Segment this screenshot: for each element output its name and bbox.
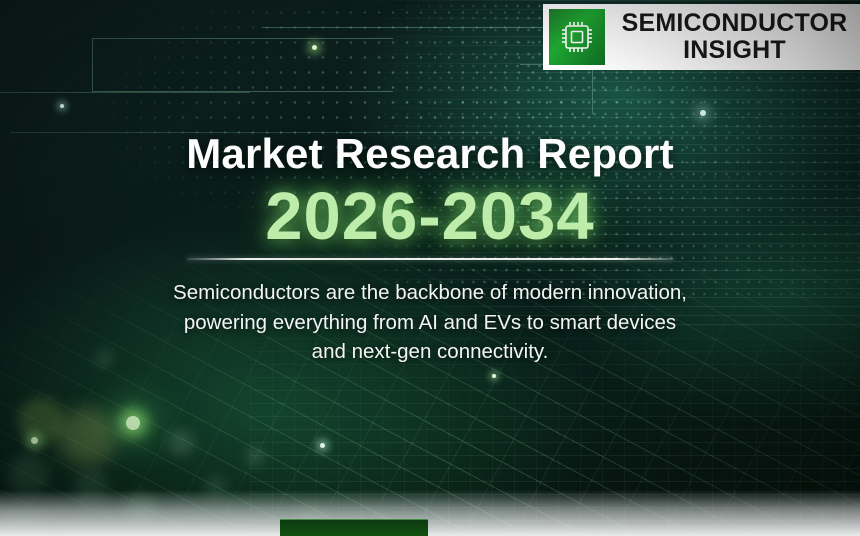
subtitle: Semiconductors are the backbone of moder… — [110, 278, 750, 366]
bokeh-light — [58, 408, 116, 466]
bokeh-light — [246, 448, 264, 466]
bokeh-light — [8, 455, 48, 495]
hero-content: Market Research Report 2026-2034 Semicon… — [0, 132, 860, 366]
bottom-fade-band — [0, 490, 860, 536]
page-title: Market Research Report — [0, 132, 860, 176]
glow-point — [700, 110, 706, 116]
microchip-icon — [549, 9, 605, 65]
bottom-chip-element — [280, 519, 428, 536]
divider — [187, 258, 673, 260]
glow-point — [312, 45, 317, 50]
brand-line-2: INSIGHT — [683, 38, 786, 63]
glow-point — [60, 104, 64, 108]
glow-point — [31, 437, 38, 444]
subtitle-line-3: and next-gen connectivity. — [110, 337, 750, 366]
circuit-outline-3 — [0, 92, 250, 94]
glow-point — [320, 443, 325, 448]
brand-wordmark: SEMICONDUCTOR INSIGHT — [613, 11, 860, 63]
year-range: 2026-2034 — [0, 182, 860, 252]
bokeh-light — [168, 430, 194, 456]
brand-logo-panel[interactable]: SEMICONDUCTOR INSIGHT — [543, 4, 860, 70]
glow-point — [126, 416, 140, 430]
subtitle-line-1: Semiconductors are the backbone of moder… — [110, 278, 750, 307]
brand-line-1: SEMICONDUCTOR — [622, 11, 848, 36]
marketing-poster: SEMICONDUCTOR INSIGHT Market Research Re… — [0, 0, 860, 536]
glow-point — [492, 374, 496, 378]
subtitle-line-2: powering everything from AI and EVs to s… — [110, 308, 750, 337]
